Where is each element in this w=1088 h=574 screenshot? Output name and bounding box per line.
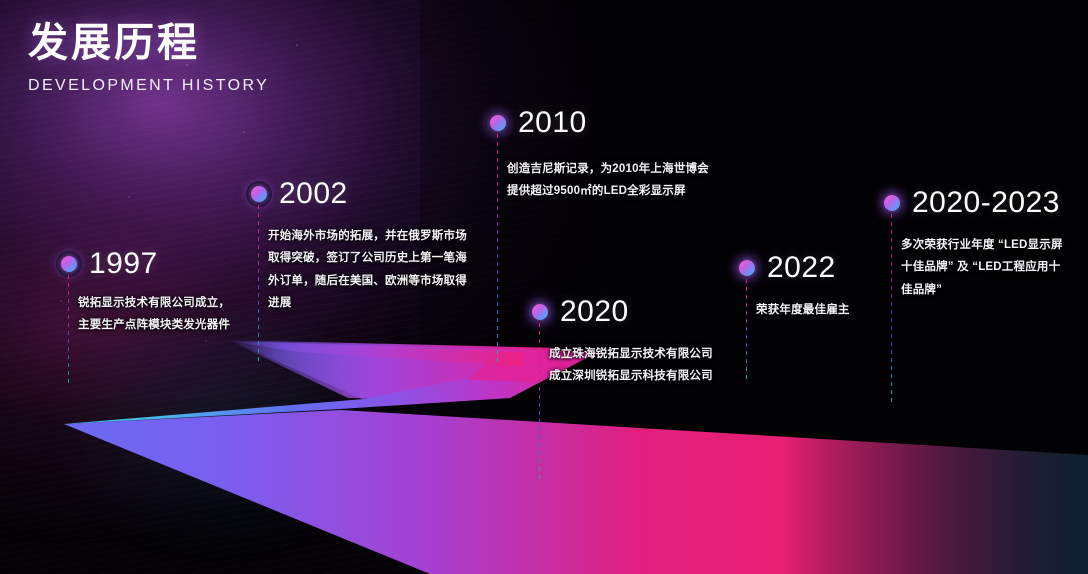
timeline-connector-line bbox=[68, 275, 69, 385]
timeline-connector-line bbox=[891, 214, 892, 404]
page-title: 发展历程 bbox=[28, 22, 269, 65]
timeline-description: 锐拓显示技术有限公司成立， 主要生产点阵模块类发光器件 bbox=[78, 292, 298, 337]
timeline-connector-line bbox=[497, 134, 498, 364]
timeline-connector-line bbox=[539, 323, 540, 483]
timeline-description: 开始海外市场的拓展，并在俄罗斯市场 取得突破，签订了公司历史上第一笔海 外订单，… bbox=[268, 225, 498, 315]
page-subtitle: DEVELOPMENT HISTORY bbox=[28, 77, 269, 95]
timeline-year-label: 1997 bbox=[89, 247, 158, 281]
timeline-year-label: 2010 bbox=[518, 106, 587, 140]
timeline-marker-icon bbox=[527, 299, 553, 325]
timeline-description: 多次荣获行业年度 “LED显示屏 十佳品牌” 及 “LED工程应用十 佳品牌” bbox=[901, 234, 1088, 301]
timeline-marker-icon bbox=[56, 251, 82, 277]
timeline-marker-icon bbox=[734, 255, 760, 281]
timeline-year-label: 2020-2023 bbox=[912, 186, 1060, 220]
timeline-connector-line bbox=[258, 205, 259, 363]
background-speck bbox=[128, 196, 130, 198]
timeline-connector-line bbox=[746, 279, 747, 379]
background-speck bbox=[296, 44, 298, 46]
slide-canvas: 发展历程 DEVELOPMENT HISTORY 1997 锐拓显示技术有限公司… bbox=[0, 0, 1088, 574]
timeline-marker-icon bbox=[246, 181, 272, 207]
timeline-year-label: 2022 bbox=[767, 251, 836, 285]
background-speck bbox=[243, 131, 245, 133]
timeline-year-label: 2002 bbox=[279, 177, 348, 211]
timeline-year-label: 2020 bbox=[560, 295, 629, 329]
background-speck bbox=[60, 300, 62, 302]
header: 发展历程 DEVELOPMENT HISTORY bbox=[28, 22, 269, 95]
timeline-marker-icon bbox=[879, 190, 905, 216]
timeline-description: 荣获年度最佳雇主 bbox=[756, 299, 956, 321]
background-speck bbox=[205, 340, 207, 342]
timeline-marker-icon bbox=[485, 110, 511, 136]
timeline-description: 创造吉尼斯记录，为2010年上海世博会 提供超过9500㎡的LED全彩显示屏 bbox=[507, 158, 737, 203]
timeline-description: 成立珠海锐拓显示技术有限公司 成立深圳锐拓显示科技有限公司 bbox=[549, 343, 779, 388]
